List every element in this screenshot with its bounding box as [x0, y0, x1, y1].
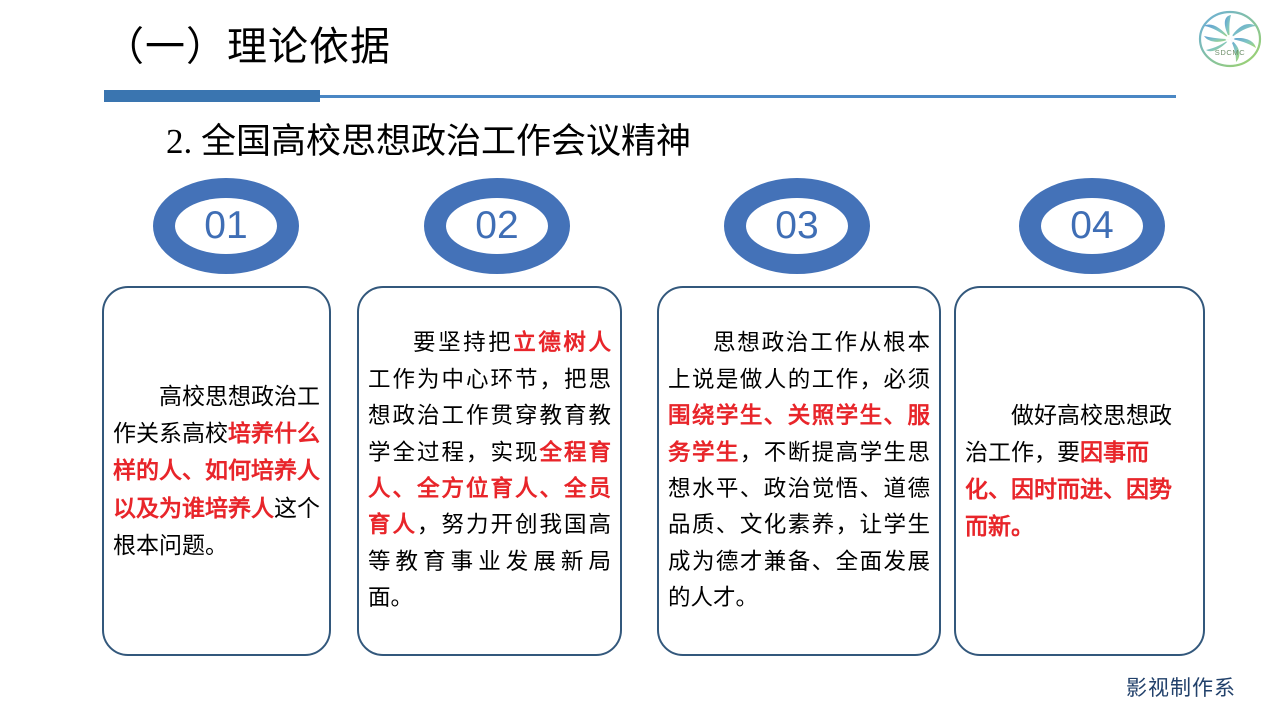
highlighted-text: 立德树人	[513, 330, 611, 355]
body-text: 要坚持把	[413, 330, 513, 355]
card-text: 做好高校思想政治工作，要因事而化、因时而进、因势而新。	[956, 397, 1203, 546]
rule-thick-segment	[104, 90, 320, 102]
step-badge-04: 04	[1019, 178, 1165, 274]
content-card-02: 要坚持把立德树人工作为中心环节，把思想政治工作贯穿教育教学全过程，实现全程育人、…	[357, 286, 622, 656]
page-subtitle: 2. 全国高校思想政治工作会议精神	[166, 121, 691, 163]
card-text: 要坚持把立德树人工作为中心环节，把思想政治工作贯穿教育教学全过程，实现全程育人、…	[359, 325, 620, 617]
footer-department-label: 影视制作系	[1126, 672, 1236, 702]
content-card-03: 思想政治工作从根本上说是做人的工作，必须围绕学生、关照学生、服务学生，不断提高学…	[657, 286, 941, 656]
card-text: 思想政治工作从根本上说是做人的工作，必须围绕学生、关照学生、服务学生，不断提高学…	[659, 325, 939, 617]
body-text: 思想政治工作从根本上说是做人的工作，必须	[668, 330, 930, 391]
title-underline-rule	[104, 90, 1176, 102]
content-card-04: 做好高校思想政治工作，要因事而化、因时而进、因势而新。	[954, 286, 1205, 656]
step-badge-01: 01	[153, 178, 299, 274]
badge-number-label: 04	[1019, 178, 1165, 274]
badge-number-label: 01	[153, 178, 299, 274]
step-badge-03: 03	[724, 178, 870, 274]
page-title: （一）理论依据	[104, 24, 391, 70]
card-text: 高校思想政治工作关系高校培养什么样的人、如何培养人以及为谁培养人这个根本问题。	[104, 378, 329, 564]
body-text: ，不断提高学生思想水平、政治觉悟、道德品质、文化素养，让学生成为德才兼备、全面发…	[668, 440, 930, 611]
rule-thin-segment	[320, 95, 1176, 98]
logo-text: SDCMC	[1215, 48, 1246, 57]
badge-number-label: 02	[424, 178, 570, 274]
content-card-01: 高校思想政治工作关系高校培养什么样的人、如何培养人以及为谁培养人这个根本问题。	[102, 286, 331, 656]
badge-number-label: 03	[724, 178, 870, 274]
step-badge-02: 02	[424, 178, 570, 274]
sdcmc-logo: SDCMC	[1186, 8, 1274, 70]
